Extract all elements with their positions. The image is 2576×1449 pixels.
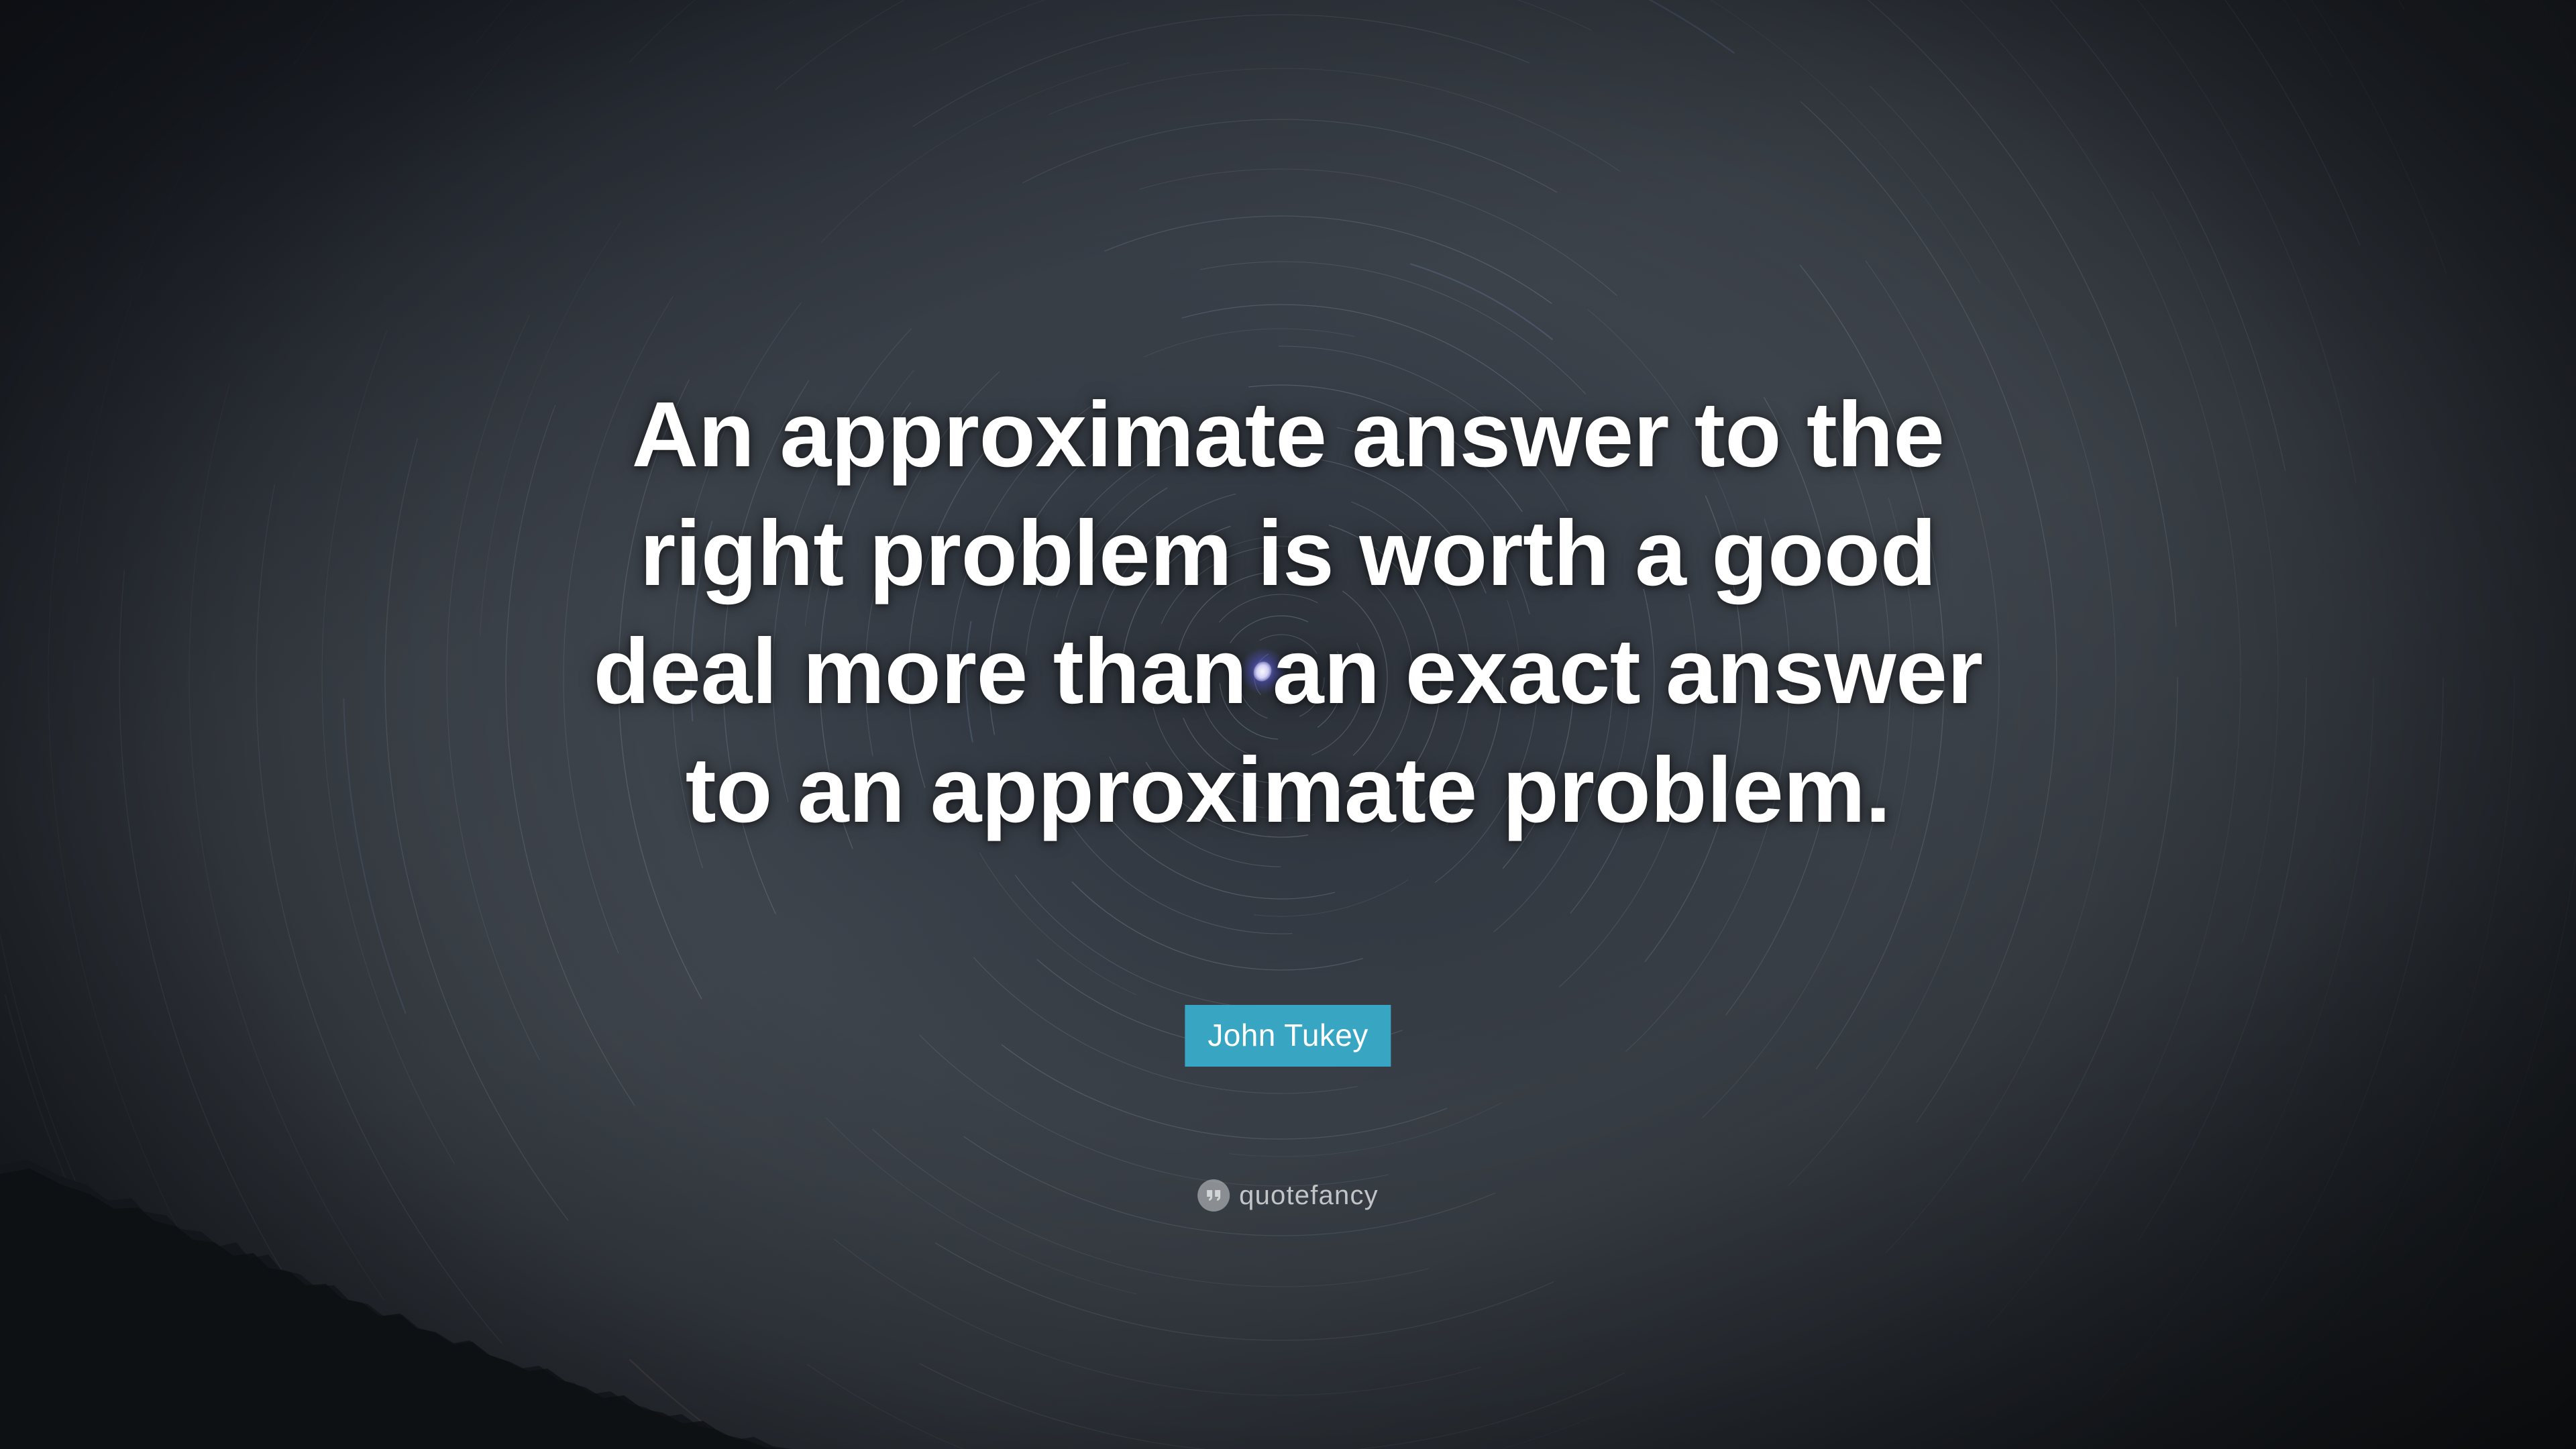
quotation-mark-icon — [1197, 1179, 1230, 1212]
author-attribution: John Tukey — [1185, 1005, 1391, 1067]
quote-text: An approximate answer to the right probl… — [476, 376, 2100, 850]
poster-content: An approximate answer to the right probl… — [0, 0, 2576, 1449]
quotefancy-watermark[interactable]: quotefancy — [1197, 1179, 1379, 1212]
quotefancy-brand-label: quotefancy — [1239, 1182, 1379, 1209]
quote-line-2: right problem is worth a good — [476, 494, 2100, 613]
quote-line-1: An approximate answer to the — [476, 376, 2100, 494]
quote-line-3: deal more than an exact answer — [476, 612, 2100, 731]
author-name-badge[interactable]: John Tukey — [1185, 1005, 1391, 1067]
quote-line-4: to an approximate problem. — [476, 731, 2100, 850]
quote-poster: An approximate answer to the right probl… — [0, 0, 2576, 1449]
